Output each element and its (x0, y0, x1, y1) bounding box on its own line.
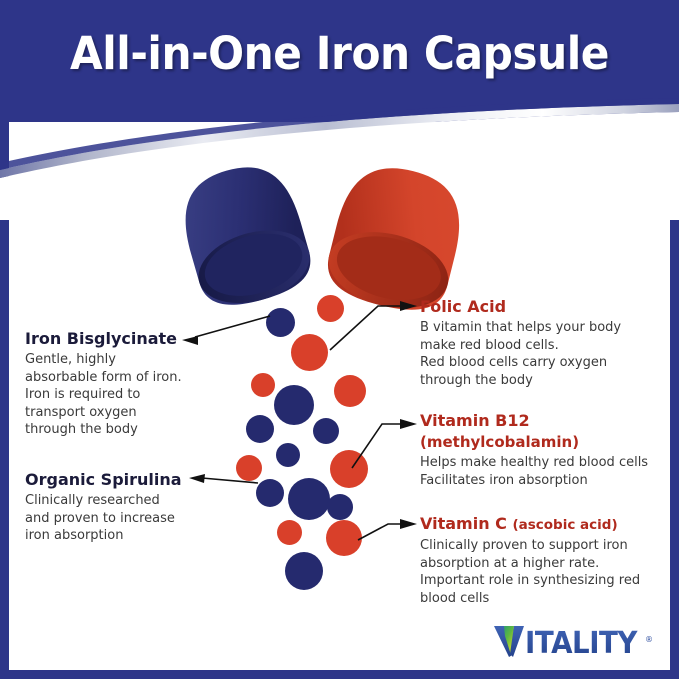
registered-trademark-icon: ® (645, 635, 653, 644)
callout-line: Iron is required to (25, 386, 220, 404)
callout-line: through the body (25, 421, 220, 439)
callout-folic-acid: Folic Acid B vitamin that helps your bod… (420, 297, 670, 389)
bead-navy (246, 415, 274, 443)
bead-red (277, 520, 302, 545)
callout-line: Clinically proven to support iron (420, 537, 675, 555)
callout-iron-bisglycinate: Iron Bisglycinate Gentle, highly absorba… (25, 329, 220, 439)
callout-heading-qualifier: (ascobic acid) (512, 517, 617, 533)
callout-line: Important role in synthesizing red (420, 572, 675, 590)
callout-body-iron-bisglycinate: Gentle, highly absorbable form of iron. … (25, 351, 220, 439)
bead-navy (313, 418, 339, 444)
bead-red (317, 295, 344, 322)
bead-red (251, 373, 275, 397)
vitality-wordmark-icon: ITALITY (494, 624, 644, 658)
callout-heading-vitamin-b12: Vitamin B12 (420, 411, 670, 431)
callout-body-vitamin-c: Clinically proven to support iron absorp… (420, 537, 675, 607)
bead-red (326, 520, 362, 556)
bead-navy (285, 552, 323, 590)
callout-body-vitamin-b12: Helps make healthy red blood cells Facil… (420, 454, 670, 489)
bead-navy (266, 308, 295, 337)
callout-body-folic-acid: B vitamin that helps your body make red … (420, 319, 670, 389)
callout-line: Gentle, highly (25, 351, 220, 369)
vitality-logo: ITALITY ® (494, 624, 653, 658)
bead-red (236, 455, 262, 481)
callout-heading-main: Vitamin C (420, 514, 507, 533)
callout-line: blood cells (420, 590, 675, 608)
callout-line: iron absorption (25, 527, 225, 545)
bead-navy (276, 443, 300, 467)
bead-red (330, 450, 368, 488)
callout-body-organic-spirulina: Clinically researched and proven to incr… (25, 492, 225, 545)
callout-heading-folic-acid: Folic Acid (420, 297, 670, 317)
callout-line: and proven to increase (25, 510, 225, 528)
callout-heading-iron-bisglycinate: Iron Bisglycinate (25, 329, 220, 349)
bead-navy (274, 385, 314, 425)
bead-red (291, 334, 328, 371)
callout-line: transport oxygen (25, 404, 220, 422)
bead-navy (288, 478, 330, 520)
callout-line: absorbable form of iron. (25, 369, 220, 387)
callout-subheading-vitamin-b12: (methylcobalamin) (420, 433, 670, 452)
svg-text:ITALITY: ITALITY (525, 626, 639, 658)
callout-line: make red blood cells. (420, 337, 670, 355)
bead-navy (327, 494, 353, 520)
callout-line: B vitamin that helps your body (420, 319, 670, 337)
callout-line: Helps make healthy red blood cells (420, 454, 670, 472)
callout-line: Red blood cells carry oxygen (420, 354, 670, 372)
bead-navy (256, 479, 284, 507)
callout-line: through the body (420, 372, 670, 390)
callout-vitamin-b12: Vitamin B12 (methylcobalamin) Helps make… (420, 411, 670, 489)
bead-red (334, 375, 366, 407)
callout-vitamin-c: Vitamin C (ascobic acid) Clinically prov… (420, 514, 675, 607)
callout-heading-vitamin-c: Vitamin C (ascobic acid) (420, 514, 675, 535)
callout-line: Clinically researched (25, 492, 225, 510)
callout-line: absorption at a higher rate. (420, 555, 675, 573)
iron-capsule-infographic: All-in-One Iron Capsule (0, 0, 679, 679)
page-title: All-in-One Iron Capsule (20, 26, 658, 82)
callout-line: Facilitates iron absorption (420, 472, 670, 490)
callout-heading-organic-spirulina: Organic Spirulina (25, 470, 225, 490)
callout-organic-spirulina: Organic Spirulina Clinically researched … (25, 470, 225, 545)
